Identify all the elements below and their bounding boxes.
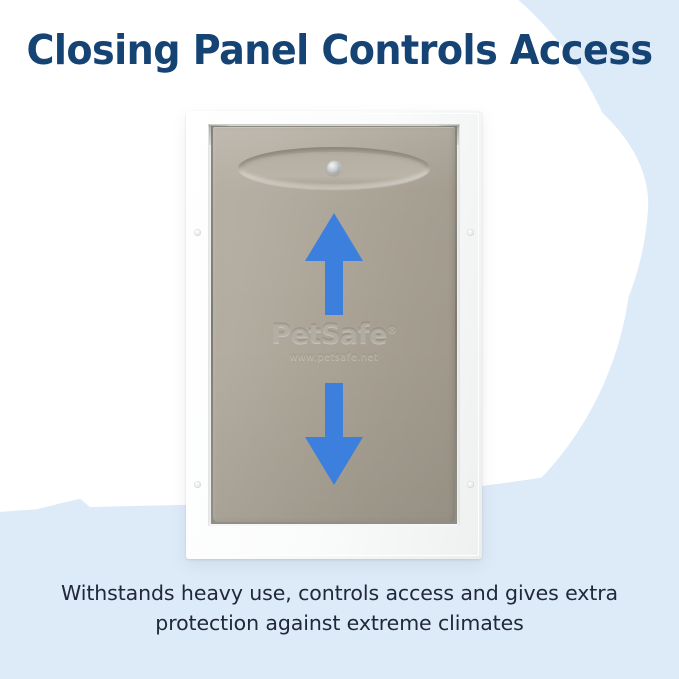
- closing-panel[interactable]: PetSafe® www.petsafe.net: [213, 127, 455, 522]
- frame-screw-right-bottom: [467, 481, 474, 488]
- promo-image: Closing Panel Controls Access: [0, 0, 679, 679]
- frame-screw-left-top: [194, 229, 201, 236]
- frame-screw-right-top: [467, 229, 474, 236]
- caption-line-2: protection against extreme climates: [40, 608, 640, 638]
- arrow-down-icon: [303, 381, 365, 487]
- frame-screw-left-bottom: [194, 481, 201, 488]
- arrow-up-icon: [303, 211, 365, 317]
- oval-handle-recess[interactable]: [238, 147, 430, 189]
- caption: Withstands heavy use, controls access an…: [40, 578, 640, 638]
- pet-door-product-image: PetSafe® www.petsafe.net: [186, 111, 482, 559]
- page-title: Closing Panel Controls Access: [24, 28, 655, 72]
- caption-line-1: Withstands heavy use, controls access an…: [40, 578, 640, 608]
- handle-pin-screw: [328, 162, 341, 175]
